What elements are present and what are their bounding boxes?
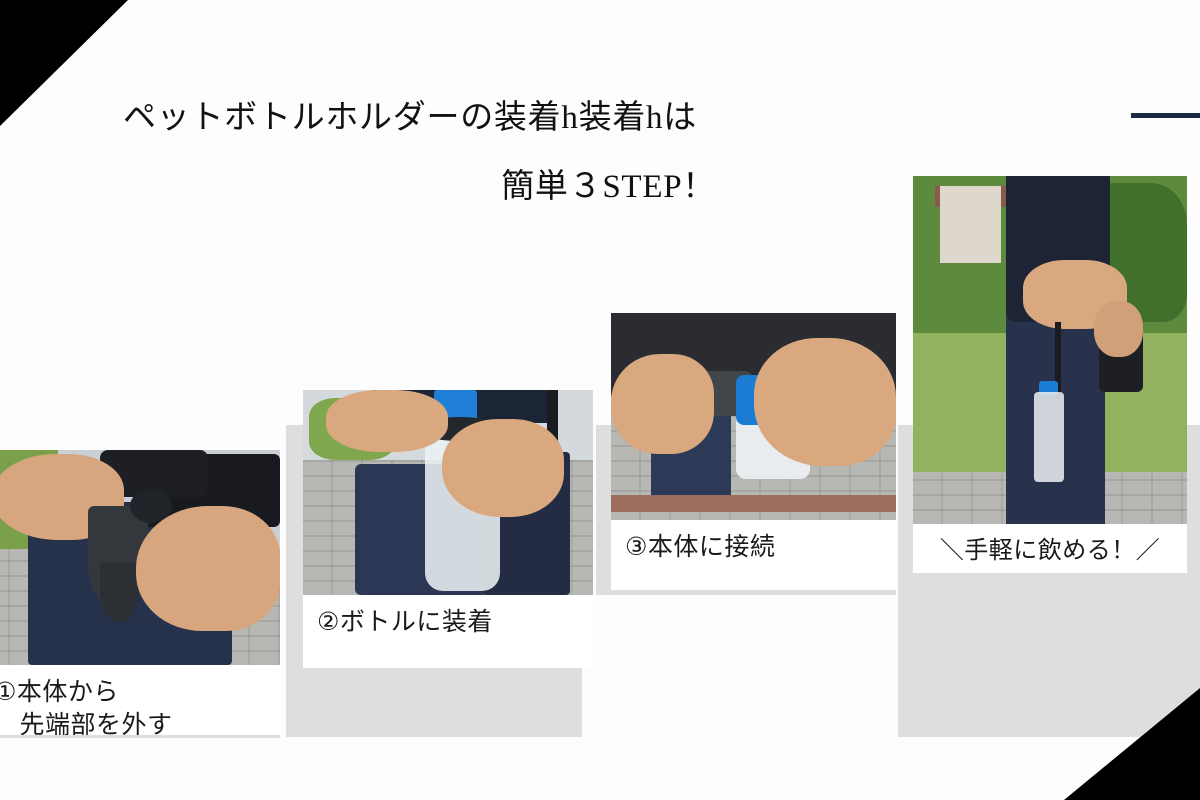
title-line-2: 簡単３STEP！ bbox=[60, 167, 760, 208]
step-2-card: ペットボトルにホルダーを装着している写真 ②ボトルに装着 bbox=[303, 390, 593, 668]
result-photo: 腰にペットボトルを下げて歩く人物の写真 bbox=[913, 176, 1187, 524]
step-3-photo: ボトルホルダーを本体に接続している写真 bbox=[611, 313, 896, 520]
corner-triangle-bottom-right bbox=[1064, 688, 1200, 800]
accent-line-top-right bbox=[1131, 113, 1200, 118]
result-caption: ＼手軽に飲める！／ bbox=[913, 524, 1187, 573]
step-3-card: ボトルホルダーを本体に接続している写真 ③本体に接続 bbox=[611, 313, 896, 590]
title-line-1: ペットボトルホルダーの装着h装着hは bbox=[60, 98, 760, 139]
step-1-card: 本体から先端部を外している手元の写真 ①本体から 先端部を外す bbox=[0, 450, 280, 735]
page-title: ペットボトルホルダーの装着h装着hは 簡単３STEP！ bbox=[60, 98, 760, 209]
slide-canvas: ペットボトルホルダーの装着h装着hは 簡単３STEP！ 本体から先端部を外してい… bbox=[0, 0, 1200, 800]
step-3-caption: ③本体に接続 bbox=[611, 520, 896, 576]
step-2-photo: ペットボトルにホルダーを装着している写真 bbox=[303, 390, 593, 595]
step-1-photo: 本体から先端部を外している手元の写真 bbox=[0, 450, 280, 665]
corner-triangle-top-left bbox=[0, 0, 128, 126]
step-1-caption: ①本体から 先端部を外す bbox=[0, 665, 280, 735]
result-card: 腰にペットボトルを下げて歩く人物の写真 ＼手軽に飲める！／ bbox=[913, 176, 1187, 573]
step-2-caption: ②ボトルに装着 bbox=[303, 595, 593, 651]
